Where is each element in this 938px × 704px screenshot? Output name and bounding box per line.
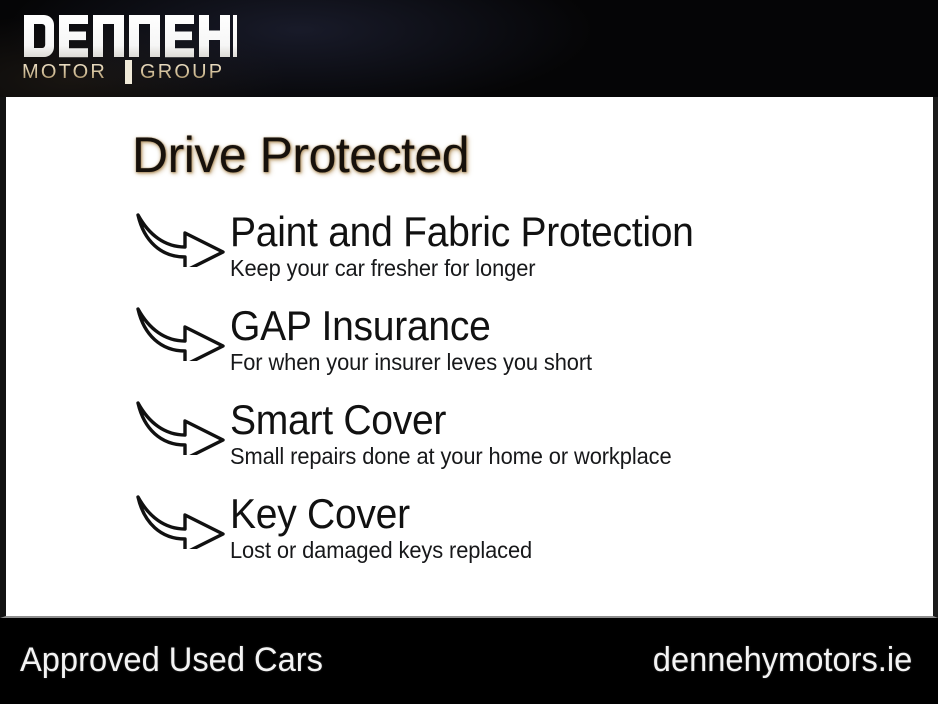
list-item: Paint and Fabric Protection Keep your ca… bbox=[6, 209, 938, 303]
curved-arrow-right-icon bbox=[135, 493, 227, 549]
brand-header-band: MOTOR GROUP DENNEHY MOTOR GROUP bbox=[0, 0, 938, 97]
benefit-title: Smart Cover bbox=[230, 397, 881, 443]
drive-protected-advert: MOTOR GROUP DENNEHY MOTOR GROUP Drive Pr… bbox=[0, 0, 938, 704]
brand-tagline-right-text: GROUP bbox=[22, 84, 23, 85]
brand-tagline-left-text: MOTOR bbox=[22, 84, 23, 85]
dennehy-wordmark-icon bbox=[22, 13, 237, 59]
list-item: Smart Cover Small repairs done at your h… bbox=[6, 397, 938, 491]
benefit-title: Key Cover bbox=[230, 491, 881, 537]
benefits-list: Paint and Fabric Protection Keep your ca… bbox=[6, 209, 938, 585]
curved-arrow-right-icon bbox=[135, 399, 227, 455]
benefit-title: Paint and Fabric Protection bbox=[230, 209, 881, 255]
benefit-subtitle: Keep your car fresher for longer bbox=[230, 255, 895, 282]
benefit-title: GAP Insurance bbox=[230, 303, 881, 349]
benefit-subtitle: Small repairs done at your home or workp… bbox=[230, 443, 895, 470]
page-title: Drive Protected bbox=[132, 130, 469, 180]
svg-text:MOTOR: MOTOR bbox=[22, 61, 107, 83]
benefit-subtitle: Lost or damaged keys replaced bbox=[230, 537, 895, 564]
list-item: GAP Insurance For when your insurer leve… bbox=[6, 303, 938, 397]
list-item: Key Cover Lost or damaged keys replaced bbox=[6, 491, 938, 585]
svg-text:GROUP: GROUP bbox=[140, 61, 224, 83]
content-panel: Drive Protected Paint and Fabric Protect… bbox=[0, 97, 938, 618]
website-url-label[interactable]: dennehymotors.ie bbox=[653, 640, 912, 680]
benefit-subtitle: For when your insurer leves you short bbox=[230, 349, 895, 376]
curved-arrow-right-icon bbox=[135, 305, 227, 361]
curved-arrow-right-icon bbox=[135, 211, 227, 267]
dennehy-motor-group-logo: MOTOR GROUP DENNEHY MOTOR GROUP bbox=[22, 13, 237, 85]
approved-used-cars-label: Approved Used Cars bbox=[20, 640, 323, 680]
footer-band: Approved Used Cars dennehymotors.ie bbox=[0, 620, 938, 704]
motor-group-tagline-icon: MOTOR GROUP bbox=[22, 60, 232, 84]
brand-name-text: DENNEHY bbox=[22, 84, 23, 85]
